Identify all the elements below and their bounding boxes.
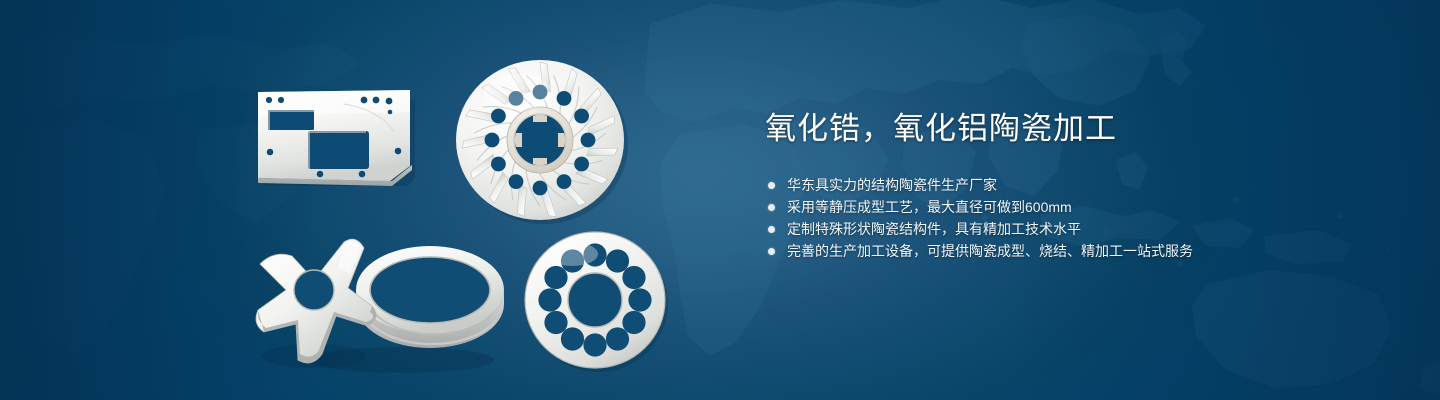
banner-feature-list: 华东具实力的结构陶瓷件生产厂家 采用等静压成型工艺，最大直径可做到600mm 定…	[765, 174, 1325, 262]
ceramic-machined-plate	[252, 82, 420, 194]
bullet-dot-icon	[768, 182, 775, 189]
feature-item: 完善的生产加工设备，可提供陶瓷成型、烧结、精加工一站式服务	[765, 240, 1325, 262]
banner-copy: 氧化锆，氧化铝陶瓷加工 华东具实力的结构陶瓷件生产厂家 采用等静压成型工艺，最大…	[765, 110, 1325, 262]
ceramic-cross-and-ring	[252, 228, 508, 374]
feature-text: 华东具实力的结构陶瓷件生产厂家	[787, 177, 997, 193]
banner-headline: 氧化锆，氧化铝陶瓷加工	[765, 110, 1325, 148]
ceramic-vaned-impeller	[452, 52, 630, 228]
ceramic-perforated-disc	[522, 228, 670, 374]
bullet-dot-icon	[768, 226, 775, 233]
feature-item: 定制特殊形状陶瓷结构件，具有精加工技术水平	[765, 218, 1325, 240]
feature-item: 华东具实力的结构陶瓷件生产厂家	[765, 174, 1325, 196]
bullet-dot-icon	[768, 248, 775, 255]
feature-text: 完善的生产加工设备，可提供陶瓷成型、烧结、精加工一站式服务	[787, 243, 1193, 259]
bullet-dot-icon	[768, 204, 775, 211]
ceramic-processing-banner: 氧化锆，氧化铝陶瓷加工 华东具实力的结构陶瓷件生产厂家 采用等静压成型工艺，最大…	[0, 0, 1440, 400]
feature-text: 采用等静压成型工艺，最大直径可做到600mm	[787, 199, 1072, 215]
feature-item: 采用等静压成型工艺，最大直径可做到600mm	[765, 196, 1325, 218]
feature-text: 定制特殊形状陶瓷结构件，具有精加工技术水平	[787, 221, 1081, 237]
